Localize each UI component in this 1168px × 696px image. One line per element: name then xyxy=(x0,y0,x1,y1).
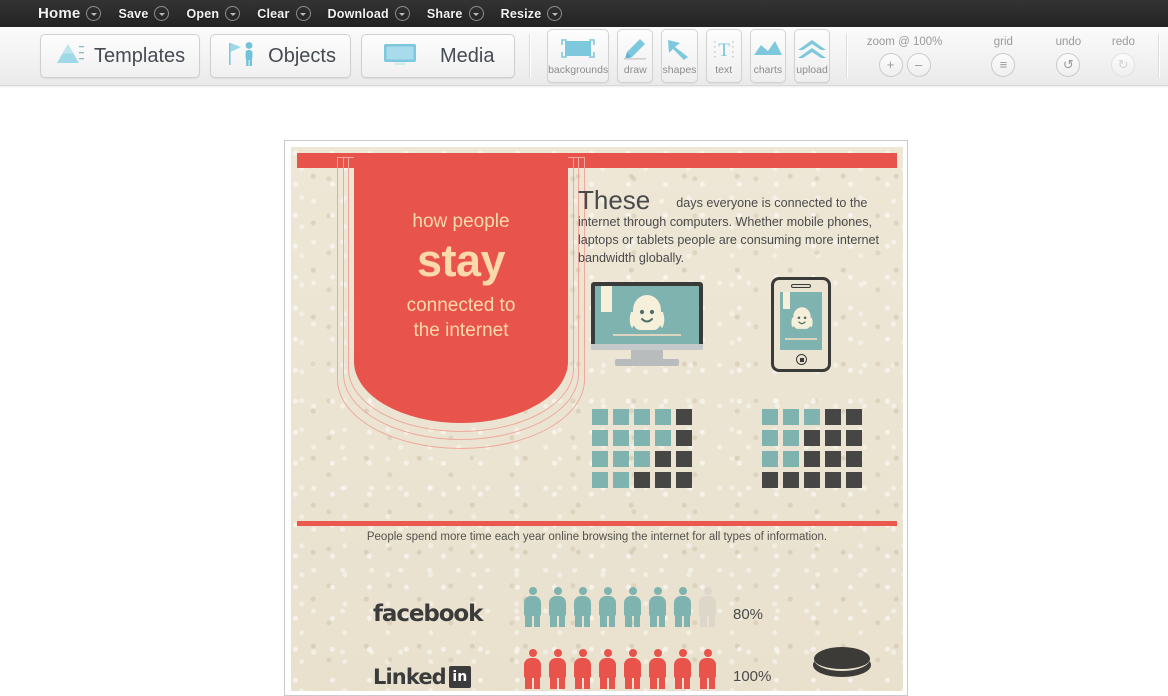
pictogram-person-filled xyxy=(523,649,542,689)
chevron-down-icon[interactable] xyxy=(547,6,562,21)
monitor-screen xyxy=(591,282,703,350)
waffle-cell-empty xyxy=(634,472,650,488)
menu-item-share[interactable]: Share xyxy=(427,6,484,21)
svg-text:T: T xyxy=(718,40,730,61)
waffle-cell-filled xyxy=(613,409,629,425)
pencil-icon xyxy=(622,36,648,62)
desktop-monitor-illustration[interactable] xyxy=(591,282,703,364)
chevron-down-icon[interactable] xyxy=(296,6,311,21)
disc-shape-decoration[interactable] xyxy=(813,647,871,677)
zoom-out-button[interactable]: – xyxy=(907,53,931,77)
menu-item-download[interactable]: Download xyxy=(328,6,410,21)
pictogram-person-filled xyxy=(698,649,717,689)
arrow-shape-icon xyxy=(665,36,693,62)
text-t-icon: T xyxy=(710,36,738,62)
waffle-cell-filled xyxy=(762,409,778,425)
undo-label: undo xyxy=(1056,36,1082,48)
waffle-cell-empty xyxy=(762,472,778,488)
waffle-cell-filled xyxy=(613,430,629,446)
pictogram-person-filled xyxy=(598,587,617,627)
waffle-cell-empty xyxy=(676,451,692,467)
pictogram-person-filled xyxy=(548,587,567,627)
monitor-icon xyxy=(382,41,418,72)
toolbar-divider-3 xyxy=(1158,34,1159,78)
facebook-logo: facebook xyxy=(373,601,523,627)
linkedin-pictogram xyxy=(523,649,723,689)
pictogram-person-filled xyxy=(623,587,642,627)
waffle-cell-filled xyxy=(783,451,799,467)
waffle-cell-filled xyxy=(634,409,650,425)
waffle-cell-filled xyxy=(592,472,608,488)
toolbar-divider-2 xyxy=(846,34,847,78)
screen-underline xyxy=(785,338,817,340)
menu-item-home[interactable]: Home xyxy=(38,5,101,22)
menu-label-open: Open xyxy=(186,7,219,21)
top-menu-bar: Home Save Open Clear Download Share Resi… xyxy=(0,0,1168,27)
upload-button[interactable]: upload xyxy=(794,29,830,83)
zoom-control: zoom @ 100% + – xyxy=(867,36,943,77)
menu-label-clear: Clear xyxy=(257,7,289,21)
media-button[interactable]: Media xyxy=(361,34,515,78)
chevron-down-icon[interactable] xyxy=(225,6,240,21)
waffle-cell-filled xyxy=(655,430,671,446)
waffle-cell-empty xyxy=(846,451,862,467)
headline-banner[interactable]: how people stay connected tothe internet xyxy=(337,157,585,449)
draw-label: draw xyxy=(624,64,647,76)
redo-label: redo xyxy=(1112,36,1135,48)
waffle-cell-empty xyxy=(804,472,820,488)
social-row-facebook[interactable]: facebook 80% xyxy=(373,587,763,627)
waffle-cell-empty xyxy=(846,430,862,446)
waffle-cell-filled xyxy=(613,451,629,467)
menu-item-clear[interactable]: Clear xyxy=(257,6,310,21)
waffle-cell-empty xyxy=(846,472,862,488)
waffle-cell-empty xyxy=(804,451,820,467)
waffle-cell-filled xyxy=(655,409,671,425)
headline-line-1: how people xyxy=(354,211,568,233)
text-label: text xyxy=(715,64,732,76)
waffle-cell-filled xyxy=(762,430,778,446)
linkedin-wordmark: Linked xyxy=(373,665,446,689)
backgrounds-label: backgrounds xyxy=(548,64,608,76)
grid-label: grid xyxy=(994,36,1013,48)
paragraph-lead-word: These xyxy=(578,185,650,215)
shapes-button[interactable]: shapes xyxy=(661,29,697,83)
waffle-cell-empty xyxy=(655,451,671,467)
menu-label-share: Share xyxy=(427,7,463,21)
poster-caption: People spend more time each year online … xyxy=(297,531,897,543)
monitor-stand-base xyxy=(615,359,679,366)
image-frame-icon xyxy=(557,36,599,62)
pictogram-person-filled xyxy=(623,649,642,689)
waffle-cell-filled xyxy=(634,451,650,467)
main-toolbar: Templates Objects Media xyxy=(0,27,1168,86)
screen-underline xyxy=(613,334,681,336)
waffle-cell-filled xyxy=(634,430,650,446)
intro-paragraph[interactable]: Thesedays everyone is connected to the i… xyxy=(578,187,900,267)
linkedin-in-icon: in xyxy=(449,666,471,688)
pictogram-person-filled xyxy=(598,649,617,689)
avatar-girl-icon xyxy=(621,292,673,336)
linkedin-logo: Linked in xyxy=(373,665,523,689)
waffle-cell-empty xyxy=(825,409,841,425)
waffle-cell-filled xyxy=(613,472,629,488)
grid-control: grid ≡ xyxy=(989,36,1017,77)
waffle-cell-empty xyxy=(676,409,692,425)
phone-home-button[interactable] xyxy=(796,354,807,365)
menu-item-resize[interactable]: Resize xyxy=(501,6,563,21)
draw-button[interactable]: draw xyxy=(617,29,653,83)
facebook-pictogram xyxy=(523,587,723,627)
waffle-cell-filled xyxy=(592,430,608,446)
chevron-down-icon[interactable] xyxy=(395,6,410,21)
avatar-girl-icon xyxy=(786,304,818,334)
menu-label-save: Save xyxy=(118,7,148,21)
waffle-cell-empty xyxy=(825,451,841,467)
infographic-poster[interactable]: how people stay connected tothe internet… xyxy=(291,147,903,691)
charts-label: charts xyxy=(754,64,783,76)
menu-label-home: Home xyxy=(38,5,80,22)
desktop-usage-waffle-chart[interactable] xyxy=(592,409,692,488)
objects-button[interactable]: Objects xyxy=(210,34,351,78)
pictogram-person-filled xyxy=(573,587,592,627)
waffle-cell-empty xyxy=(676,430,692,446)
redo-button[interactable]: ↻ xyxy=(1111,53,1135,77)
line-chart-icon xyxy=(752,36,784,62)
menu-label-resize: Resize xyxy=(501,7,542,21)
waffle-cell-filled xyxy=(783,430,799,446)
banner-text: how people stay connected tothe internet xyxy=(354,211,568,344)
pictogram-person-empty xyxy=(698,587,717,627)
menu-item-save[interactable]: Save xyxy=(118,6,169,21)
chevron-up-icon xyxy=(797,36,827,62)
upload-label: upload xyxy=(796,64,828,76)
phone-screen xyxy=(780,292,822,350)
text-button[interactable]: T text xyxy=(706,29,742,83)
disc-top xyxy=(814,647,870,671)
charts-button[interactable]: charts xyxy=(750,29,786,83)
linkedin-percent: 100% xyxy=(733,668,771,685)
waffle-cell-empty xyxy=(804,430,820,446)
waffle-cell-empty xyxy=(676,472,692,488)
waffle-cell-filled xyxy=(592,409,608,425)
chevron-down-icon[interactable] xyxy=(86,6,101,21)
waffle-cell-empty xyxy=(825,472,841,488)
waffle-cell-empty xyxy=(846,409,862,425)
waffle-cell-empty xyxy=(825,430,841,446)
zoom-label: zoom @ 100% xyxy=(867,36,943,48)
pictogram-person-filled xyxy=(523,587,542,627)
waffle-cell-filled xyxy=(783,409,799,425)
waffle-cell-filled xyxy=(762,451,778,467)
pictogram-person-filled xyxy=(573,649,592,689)
flag-person-icon xyxy=(225,41,259,72)
templates-button[interactable]: Templates xyxy=(40,34,200,78)
facebook-percent: 80% xyxy=(733,606,763,623)
social-row-linkedin[interactable]: Linked in 100% xyxy=(373,649,771,689)
zoom-in-button[interactable]: + xyxy=(879,53,903,77)
templates-label: Templates xyxy=(94,45,185,68)
menu-item-open[interactable]: Open xyxy=(186,6,240,21)
headline-line-3: connected tothe internet xyxy=(354,293,568,344)
headline-line-2: stay xyxy=(354,235,568,287)
grid-toggle-button[interactable]: ≡ xyxy=(991,53,1015,77)
mobile-phone-illustration[interactable] xyxy=(771,277,831,372)
bookmark-ribbon-icon xyxy=(601,286,612,312)
pictogram-person-filled xyxy=(648,649,667,689)
pictogram-person-filled xyxy=(548,649,567,689)
objects-label: Objects xyxy=(268,45,336,68)
waffle-cell-empty xyxy=(783,472,799,488)
waffle-cell-filled xyxy=(592,451,608,467)
menu-label-download: Download xyxy=(328,7,389,21)
design-canvas[interactable]: how people stay connected tothe internet… xyxy=(284,140,908,696)
pictogram-person-filled xyxy=(673,587,692,627)
phone-speaker xyxy=(791,284,811,288)
mobile-usage-waffle-chart[interactable] xyxy=(762,409,862,488)
waffle-cell-empty xyxy=(655,472,671,488)
undo-control: undo ↺ xyxy=(1054,36,1082,77)
undo-button[interactable]: ↺ xyxy=(1056,53,1080,77)
pyramid-chart-icon xyxy=(55,42,85,71)
chevron-down-icon[interactable] xyxy=(469,6,484,21)
shapes-label: shapes xyxy=(663,64,697,76)
media-label: Media xyxy=(440,45,494,68)
waffle-cell-filled xyxy=(804,409,820,425)
chevron-down-icon[interactable] xyxy=(154,6,169,21)
backgrounds-button[interactable]: backgrounds xyxy=(547,29,609,83)
pictogram-person-filled xyxy=(673,649,692,689)
pictogram-person-filled xyxy=(648,587,667,627)
toolbar-divider xyxy=(529,34,530,78)
redo-control: redo ↻ xyxy=(1109,36,1137,77)
poster-divider-red-line xyxy=(297,521,897,526)
